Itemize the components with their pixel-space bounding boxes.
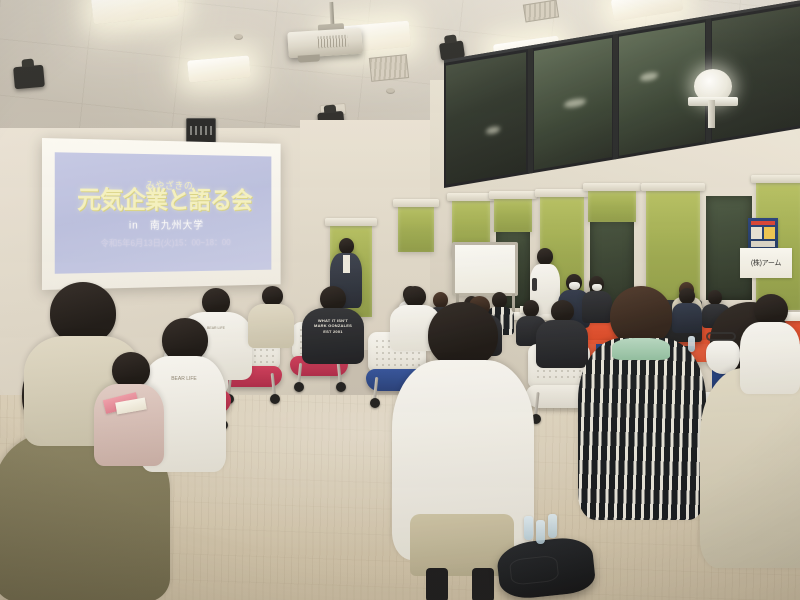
exterior-lamp-post: [708, 100, 715, 128]
poster-band: [751, 221, 775, 225]
collar: [612, 338, 670, 360]
torso: [740, 322, 800, 394]
roller-blind[interactable]: [494, 198, 532, 232]
torso: [700, 368, 800, 568]
window-pane: [619, 22, 705, 155]
window-mullion: [613, 34, 618, 160]
projector-vent: [318, 35, 349, 49]
classroom-seminar-photo: みやざきの 元気企業と語る会 in 南九州大学 令和5年6月13日(火)15：0…: [0, 0, 800, 600]
jacket-graphic-text: WHAT IT ISN'T MARK GONZALES EST 2001: [312, 318, 354, 334]
head: [537, 248, 553, 265]
ceiling-projector: [287, 28, 362, 58]
wall-clock: [186, 118, 216, 143]
foreground-attendee-striped: [578, 286, 706, 516]
water-bottle: [548, 514, 557, 538]
slide-date: 令和5年6月13日(火)15：00~18：00: [100, 235, 230, 249]
head: [428, 302, 498, 368]
window-mullion: [528, 48, 533, 174]
head: [339, 238, 354, 254]
poster-band: [751, 227, 762, 239]
jacket-line-3: EST 2001: [312, 329, 354, 334]
chair-caster: [336, 382, 346, 392]
torso: [248, 304, 294, 348]
roller-blind[interactable]: [588, 190, 636, 222]
slide-title: 元気企業と語る会: [77, 188, 252, 214]
ceiling-sprinkler: [386, 88, 395, 94]
chair-caster: [270, 394, 280, 404]
company-poster: [748, 218, 778, 250]
poster-band: [751, 241, 775, 247]
presentation-slide: みやざきの 元気企業と語る会 in 南九州大学 令和5年6月13日(火)15：0…: [55, 152, 272, 274]
head: [202, 288, 230, 315]
slide-location: in 南九州大学: [129, 216, 204, 232]
water-bottle: [524, 516, 533, 540]
leg-sock: [426, 568, 448, 600]
attendee-graphic-jacket: WHAT IT ISN'T MARK GONZALES EST 2001: [302, 286, 364, 362]
company-name-label: (株)アーム: [751, 258, 781, 268]
water-bottle: [536, 520, 545, 544]
head: [610, 286, 672, 346]
whiteboard: [452, 242, 518, 296]
roller-blind[interactable]: [398, 206, 434, 252]
poster-band: [764, 227, 775, 239]
torso: [302, 308, 364, 364]
ceiling-speaker: [13, 65, 45, 90]
head: [112, 352, 150, 388]
ceiling-sprinkler: [234, 34, 243, 40]
water-bottle: [688, 336, 695, 352]
microphone: [532, 278, 537, 291]
shirt-graphic: BEAR LIFE: [162, 376, 206, 383]
window-pane: [446, 52, 526, 184]
leg-sock: [472, 568, 494, 600]
attendee-seated: [248, 286, 294, 346]
head: [551, 300, 574, 322]
chair-caster: [370, 398, 380, 408]
chair-caster: [294, 382, 304, 392]
head: [50, 282, 116, 344]
jacket-line-2: MARK GONZALES: [312, 323, 354, 328]
projection-screen: みやざきの 元気企業と語る会 in 南九州大学 令和5年6月13日(火)15：0…: [42, 138, 281, 290]
dress-shirt: [343, 255, 350, 273]
attendee-back-right: [740, 294, 800, 390]
eyeglasses: [706, 332, 736, 341]
head: [262, 286, 283, 306]
company-name-sign: (株)アーム: [740, 248, 792, 278]
ceiling-air-vent: [369, 54, 409, 82]
torso: [578, 338, 706, 520]
